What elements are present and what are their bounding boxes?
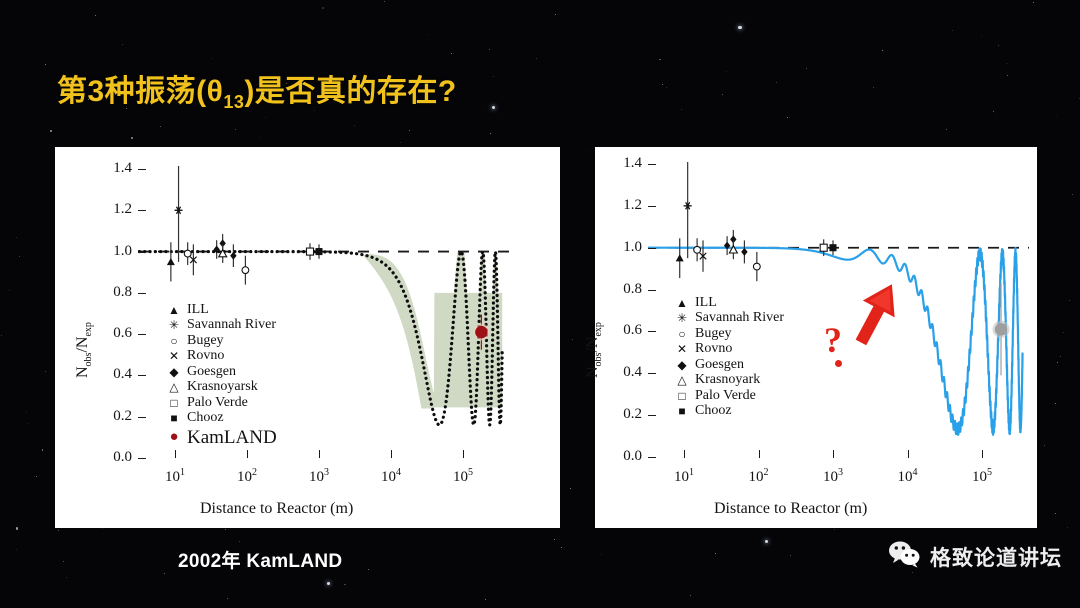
legend-symbol-icon: ○ — [164, 335, 184, 347]
right-x-axis-title: Distance to Reactor (m) — [714, 500, 867, 518]
right-y-title-sub-exp: exp — [593, 322, 604, 336]
y-tick-label: 0.0 — [604, 448, 642, 465]
x-tick-label: 102 — [221, 467, 273, 486]
x-tick-label: 101 — [149, 467, 201, 486]
legend-label: Krasnoyarsk — [184, 380, 258, 394]
y-tick — [648, 415, 656, 416]
y-tick — [648, 248, 656, 249]
y-tick-label: 1.2 — [94, 201, 132, 218]
legend-item: ✕Rovno — [164, 349, 277, 365]
legend-item: ■Chooz — [164, 411, 277, 427]
y-tick-label: 0.2 — [94, 408, 132, 425]
page-title: 第3种振荡(θ13)是否真的存在? — [57, 66, 457, 113]
x-tick — [463, 450, 464, 458]
legend-symbol-icon: ◆ — [672, 359, 692, 371]
y-tick-label: 0.6 — [604, 322, 642, 339]
x-tick — [175, 450, 176, 458]
right-y-axis-title: Nobs/Nexp — [584, 322, 604, 378]
x-tick-label: 101 — [658, 467, 710, 486]
slide-caption: 2002年 KamLAND — [178, 546, 342, 573]
legend-item: ✳Savannah River — [164, 318, 277, 334]
y-tick — [648, 331, 656, 332]
left-y-title-n1: N — [74, 366, 91, 378]
legend-label: Goesgen — [692, 358, 744, 372]
legend-item: △Krasnoyark — [672, 373, 784, 389]
y-tick — [648, 373, 656, 374]
legend-label: ILL — [692, 296, 717, 310]
legend-label: Bugey — [692, 327, 732, 341]
y-tick-label: 0.4 — [604, 364, 642, 381]
legend-label: KamLAND — [184, 428, 277, 447]
legend-item: ✕Rovno — [672, 342, 784, 358]
page-title-tail: )是否真的存在? — [244, 75, 456, 108]
legend-item: □Palo Verde — [164, 395, 277, 411]
legend-label: Savannah River — [184, 318, 276, 332]
x-tick-label: 102 — [733, 467, 785, 486]
legend-symbol-icon: ○ — [672, 328, 692, 340]
legend-label: Savannah River — [692, 311, 784, 325]
legend-item: ✳Savannah River — [672, 311, 784, 327]
y-tick — [138, 252, 146, 253]
legend-label: Palo Verde — [184, 396, 248, 410]
watermark-text: 格致论道讲坛 — [930, 542, 1062, 572]
y-tick-label: 0.8 — [604, 281, 642, 298]
y-tick — [648, 457, 656, 458]
legend-item: ■Chooz — [672, 404, 784, 420]
left-x-axis-title: Distance to Reactor (m) — [200, 500, 353, 518]
y-tick — [648, 164, 656, 165]
legend-symbol-icon: ■ — [672, 405, 692, 417]
y-tick — [138, 210, 146, 211]
legend-item: ●KamLAND — [164, 426, 277, 448]
legend-item: ○Bugey — [164, 333, 277, 349]
legend-symbol-icon: ✕ — [672, 343, 692, 355]
legend-symbol-icon: ✳ — [672, 312, 692, 324]
question-mark-dot — [835, 360, 842, 367]
x-tick — [684, 450, 685, 458]
wechat-icon — [888, 540, 922, 573]
legend-label: Rovno — [184, 349, 224, 363]
legend-item: ◆Goesgen — [672, 357, 784, 373]
y-tick-label: 1.0 — [94, 243, 132, 260]
x-tick-label: 105 — [437, 467, 489, 486]
left-y-title-slash-n: /N — [74, 337, 91, 353]
legend-symbol-icon: △ — [672, 374, 692, 386]
y-tick-label: 0.8 — [94, 284, 132, 301]
right-y-title-n1: N — [584, 366, 601, 378]
legend-label: Bugey — [184, 334, 224, 348]
right-y-title-sub-obs: obs — [593, 353, 604, 367]
x-tick — [391, 450, 392, 458]
x-tick — [319, 450, 320, 458]
right-y-title-slash-n: /N — [584, 337, 601, 353]
page-title-subscript: 13 — [223, 92, 244, 112]
legend-symbol-icon: ● — [164, 430, 184, 445]
legend-item: △Krasnoyarsk — [164, 380, 277, 396]
y-tick-label: 1.2 — [604, 197, 642, 214]
x-tick — [759, 450, 760, 458]
y-tick — [138, 293, 146, 294]
y-tick-label: 1.4 — [604, 155, 642, 172]
x-tick-label: 104 — [882, 467, 934, 486]
y-tick — [138, 169, 146, 170]
x-tick-label: 103 — [807, 467, 859, 486]
x-tick-label: 104 — [365, 467, 417, 486]
x-tick — [247, 450, 248, 458]
y-tick — [138, 417, 146, 418]
x-tick — [833, 450, 834, 458]
y-tick-label: 0.6 — [94, 325, 132, 342]
legend-item: ◆Goesgen — [164, 364, 277, 380]
legend-item: ▲ILL — [672, 295, 784, 311]
legend-symbol-icon: △ — [164, 381, 184, 393]
y-tick-label: 0.4 — [94, 366, 132, 383]
legend-item: ▲ILL — [164, 302, 277, 318]
page-title-main: 第3种振荡(θ — [57, 75, 223, 108]
right-chart-legend: ▲ILL✳Savannah River○Bugey✕Rovno◆Goesgen△… — [672, 295, 784, 419]
legend-symbol-icon: □ — [164, 397, 184, 409]
legend-item: □Palo Verde — [672, 388, 784, 404]
legend-symbol-icon: ■ — [164, 412, 184, 424]
legend-label: Goesgen — [184, 365, 236, 379]
red-up-arrow — [845, 276, 915, 351]
legend-symbol-icon: ✕ — [164, 350, 184, 362]
y-tick-label: 1.4 — [94, 160, 132, 177]
y-tick — [648, 290, 656, 291]
legend-symbol-icon: □ — [672, 390, 692, 402]
legend-item: ○Bugey — [672, 326, 784, 342]
y-tick-label: 0.2 — [604, 406, 642, 423]
x-tick — [908, 450, 909, 458]
legend-symbol-icon: ▲ — [164, 304, 184, 316]
legend-label: Chooz — [184, 411, 224, 425]
x-tick — [982, 450, 983, 458]
legend-label: Krasnoyark — [692, 373, 760, 387]
y-tick-label: 1.0 — [604, 239, 642, 256]
watermark: 格致论道讲坛 — [888, 540, 1062, 573]
left-y-title-sub-obs: obs — [83, 353, 94, 367]
y-tick — [648, 206, 656, 207]
left-y-axis-title: Nobs/Nexp — [74, 322, 94, 378]
legend-label: Palo Verde — [692, 389, 756, 403]
y-tick — [138, 334, 146, 335]
y-tick-label: 0.0 — [94, 449, 132, 466]
red-question-mark: ? — [824, 322, 842, 358]
left-chart-legend: ▲ILL✳Savannah River○Bugey✕Rovno◆Goesgen△… — [164, 302, 277, 448]
legend-label: Rovno — [692, 342, 732, 356]
legend-label: ILL — [184, 303, 209, 317]
legend-symbol-icon: ▲ — [672, 297, 692, 309]
legend-symbol-icon: ✳ — [164, 319, 184, 331]
legend-label: Chooz — [692, 404, 732, 418]
left-y-title-sub-exp: exp — [83, 322, 94, 336]
y-tick — [138, 458, 146, 459]
x-tick-label: 103 — [293, 467, 345, 486]
x-tick-label: 105 — [956, 467, 1008, 486]
y-tick — [138, 375, 146, 376]
legend-symbol-icon: ◆ — [164, 366, 184, 378]
